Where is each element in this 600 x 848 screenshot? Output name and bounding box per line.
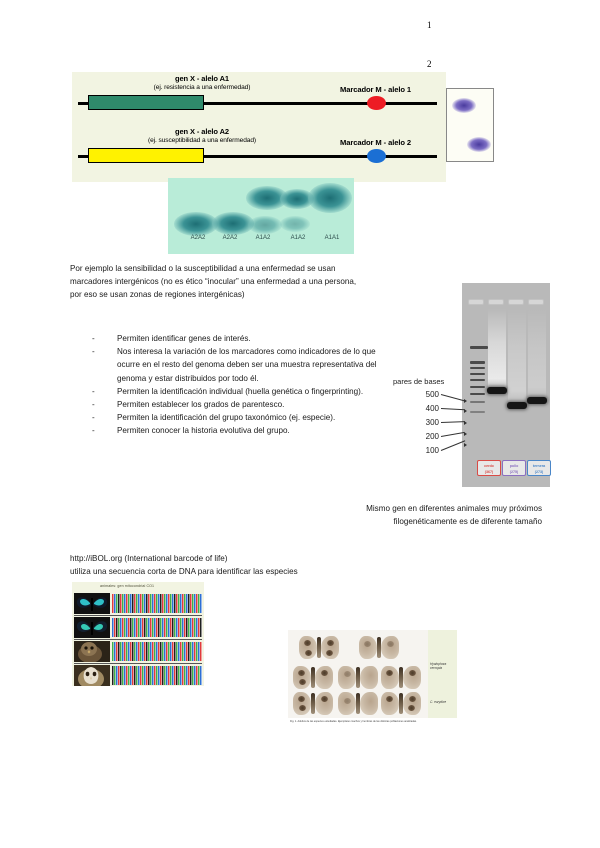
blot-spot-1: [452, 98, 476, 113]
marker-allele-2-icon: [367, 149, 386, 163]
moth-specimen: [380, 690, 422, 717]
ladder-arrow: [464, 409, 467, 413]
ibol-text-block: http://iBOL.org (International barcode o…: [70, 553, 420, 578]
moth-eyespot: [321, 696, 328, 702]
ladder-arrow: [464, 399, 467, 403]
benefits-bullet-list: - Permiten identificar genes de interés.…: [70, 332, 382, 438]
moth-specimen: [292, 690, 334, 717]
dna-barcode-figure: animales: gen mitocondrial CO1: [72, 582, 204, 686]
gel-axis-label: pares de bases: [393, 377, 444, 386]
marker-title-1: Marcador M - alelo 1: [340, 85, 450, 94]
ladder-band: [470, 367, 485, 369]
list-item-label: Permiten la identificación individual (h…: [117, 387, 363, 396]
allele-row-2: gen X - alelo A2 (ej. susceptibilidad a …: [72, 127, 446, 179]
gene-box-a1: [88, 95, 204, 110]
moth-eyespot: [305, 650, 312, 656]
moth-eyespot: [298, 670, 305, 676]
moth-wing-right: [360, 666, 378, 689]
moth-body: [311, 693, 315, 714]
list-item: - Permiten identificar genes de interés.: [70, 332, 382, 345]
moth-specimen: [358, 634, 400, 661]
moth-eyespot: [298, 696, 305, 702]
moth-specimen: [298, 634, 340, 661]
gene-box-a2: [88, 148, 204, 163]
document-page: gen X - alelo A1 (ej. resistencia a una …: [0, 0, 600, 848]
gel-lane-smear: [508, 309, 526, 405]
moth-eyespot: [409, 696, 416, 702]
ladder-band: [470, 361, 485, 364]
blot-spot-2: [467, 137, 491, 152]
barcode-strip: [112, 594, 202, 613]
gel-well: [528, 299, 544, 305]
gel-band: [280, 216, 310, 232]
blot-number-2: 2: [427, 59, 432, 69]
gene-subtitle-a2: (ej. susceptibilidad a una enfermedad): [74, 137, 330, 145]
ladder-tick-400: 400: [417, 404, 439, 413]
ladder-band: [470, 393, 485, 395]
barcode-row: [72, 664, 204, 686]
owl-brown-thumb: [74, 641, 110, 662]
sample-tag-size: (275): [503, 469, 525, 476]
barcode-row: [72, 592, 204, 615]
gene-title-a1: gen X - alelo A1: [82, 74, 322, 83]
gel-lane-label: A2A2: [215, 235, 245, 241]
gel-band: [308, 183, 352, 213]
gel-lane-label: A2A2: [183, 235, 213, 241]
marker-allele-1-icon: [367, 96, 386, 110]
gel-well-row: [462, 299, 550, 308]
ladder-band: [470, 346, 488, 349]
gel-lane-label: A1A1: [317, 235, 347, 241]
list-item-label: Permiten identificar genes de interés.: [117, 334, 251, 343]
gel-band-ternera: [527, 397, 547, 404]
bullet-dash: -: [92, 332, 95, 345]
butterfly-blue-thumb: [74, 593, 110, 614]
ladder-arrow: [464, 421, 467, 425]
ladder-leader-line: [441, 394, 464, 401]
moth-eyespot: [326, 650, 333, 656]
plate-side-panel: [428, 630, 457, 718]
moth-eyespot: [344, 671, 351, 677]
moth-body: [399, 667, 403, 688]
ladder-band: [470, 386, 485, 388]
gel-band: [248, 216, 282, 234]
list-item-label: Permiten la identificación del grupo tax…: [117, 413, 335, 422]
ladder-arrow: [464, 443, 467, 447]
ibol-description-line: utiliza una secuencia corta de DNA para …: [70, 566, 420, 579]
list-item: - Permiten conocer la historia evolutiva…: [70, 424, 382, 437]
moth-eyespot: [304, 640, 311, 646]
barcode-strip: [112, 666, 202, 685]
moth-body: [399, 693, 403, 714]
butterfly-teal-thumb: [74, 617, 110, 638]
ladder-band: [470, 379, 485, 381]
moth-eyespot: [364, 641, 371, 647]
moth-wing-right: [360, 692, 378, 715]
barcode-strip: [112, 642, 202, 661]
list-item: - Permiten la identificación individual …: [70, 385, 382, 398]
ladder-band: [470, 401, 485, 403]
bullet-dash: -: [92, 411, 95, 424]
moth-specimen: [337, 664, 379, 691]
species-caption-bottom: C. eurydice: [430, 700, 446, 704]
list-item: - Permiten la identificación del grupo t…: [70, 411, 382, 424]
intro-paragraph: Por ejemplo la sensibilidad o la suscept…: [70, 262, 370, 302]
list-item: - Permiten establecer los grados de pare…: [70, 398, 382, 411]
gel-photo-caption: Mismo gen en diferentes animales muy pró…: [352, 503, 542, 528]
blot-number-1: 1: [427, 20, 432, 30]
gel-lane-label: A1A2: [283, 235, 313, 241]
ladder-arrow: [464, 432, 467, 436]
moth-body: [356, 693, 360, 714]
moth-eyespot: [409, 670, 416, 676]
southern-blot-gel: [168, 178, 354, 254]
sample-tag-pollo: pollo (275): [502, 460, 526, 476]
moth-eyespot: [344, 698, 351, 704]
moth-eyespot: [299, 679, 306, 685]
ladder-band: [470, 411, 485, 413]
moth-wing-right: [381, 636, 399, 659]
moth-body: [356, 667, 360, 688]
bullet-dash: -: [92, 345, 95, 358]
barcode-row: [72, 640, 204, 663]
moth-eyespot: [386, 696, 393, 702]
marcador-genetico-diagram: gen X - alelo A1 (ej. resistencia a una …: [72, 72, 446, 182]
list-item: - Nos interesa la variación de los marca…: [70, 345, 382, 385]
ladder-tick-500: 500: [417, 390, 439, 399]
ibol-url-line[interactable]: http://iBOL.org (International barcode o…: [70, 553, 420, 566]
plate-figure-note: Fig. 1. Adultos de las especies estudiad…: [290, 720, 430, 724]
sample-tag-size: (273): [528, 469, 550, 476]
bullet-dash: -: [92, 385, 95, 398]
gel-well: [468, 299, 484, 305]
moth-body: [311, 667, 315, 688]
ladder-tick-100: 100: [417, 446, 439, 455]
moth-eyespot: [386, 670, 393, 676]
moth-eyespot: [408, 705, 415, 711]
list-item-label: Nos interesa la variación de los marcado…: [117, 347, 377, 382]
gel-lane-label: A1A2: [248, 235, 278, 241]
moth-eyespot: [387, 641, 394, 647]
gel-well: [508, 299, 524, 305]
moth-specimen-plate: Hyalophora cecropia C. eurydice Fig. 1. …: [280, 626, 457, 734]
list-item-label: Permiten establecer los grados de parent…: [117, 400, 284, 409]
moth-body: [377, 637, 381, 658]
sample-tag-cerdo: cerdo (367): [477, 460, 501, 476]
bullet-dash: -: [92, 424, 95, 437]
gel-well: [488, 299, 504, 305]
ladder-tick-300: 300: [417, 418, 439, 427]
pcr-agarose-gel-photo: [462, 283, 550, 487]
gel-band-cerdo: [487, 387, 507, 394]
owl-barn-thumb: [74, 665, 110, 686]
gel-lane-smear: [488, 309, 506, 391]
moth-eyespot: [299, 705, 306, 711]
gel-band-pollo: [507, 402, 527, 409]
bullet-dash: -: [92, 398, 95, 411]
sample-tag-ternera: ternera (273): [527, 460, 551, 476]
moth-specimen: [337, 690, 379, 717]
moth-wing-left: [338, 666, 356, 689]
list-item-label: Permiten conocer la historia evolutiva d…: [117, 426, 290, 435]
gel-lane-smear: [528, 309, 546, 401]
moth-body: [317, 637, 321, 658]
moth-eyespot: [327, 640, 334, 646]
moth-eyespot: [321, 670, 328, 676]
moth-specimen: [380, 664, 422, 691]
species-caption-top: Hyalophora cecropia: [430, 662, 457, 670]
barcode-figure-title: animales: gen mitocondrial CO1: [100, 584, 154, 588]
ladder-tick-200: 200: [417, 432, 439, 441]
moth-wing-left: [359, 636, 377, 659]
ladder-leader-line: [441, 408, 465, 410]
blot-box: [446, 88, 494, 162]
barcode-strip: [112, 618, 202, 637]
moth-specimen: [292, 664, 334, 691]
gene-title-a2: gen X - alelo A2: [82, 127, 322, 136]
sample-tag-size: (367): [478, 469, 500, 476]
barcode-row: [72, 616, 204, 639]
ladder-band: [470, 373, 485, 375]
gene-subtitle-a1: (ej. resistencia a una enfermedad): [74, 84, 330, 92]
marker-title-2: Marcador M - alelo 2: [340, 138, 450, 147]
allele-row-1: gen X - alelo A1 (ej. resistencia a una …: [72, 74, 446, 126]
